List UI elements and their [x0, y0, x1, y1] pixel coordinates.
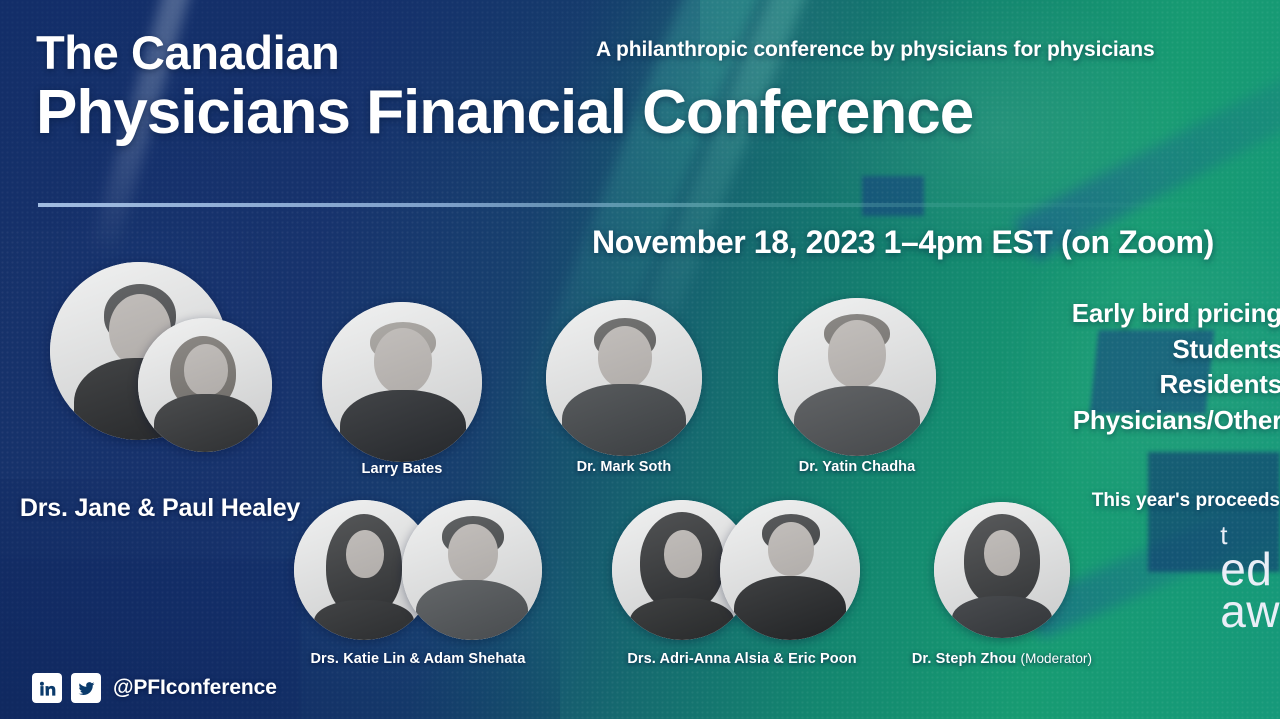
caption-bates: Larry Bates — [322, 461, 482, 477]
proceeds-note: This year's proceeds — [1092, 490, 1280, 512]
twitter-icon[interactable] — [71, 673, 101, 703]
title-line-2: Physicians Financial Conference — [36, 80, 973, 145]
speaker-portrait-healey — [50, 244, 272, 462]
pricing-list: Early bird pricing Students Residents Ph… — [1072, 296, 1280, 438]
portrait-image — [546, 300, 702, 456]
portrait-image — [322, 302, 482, 462]
conference-promo-banner: The Canadian Physicians Financial Confer… — [0, 0, 1280, 719]
avatar — [138, 318, 272, 452]
sponsor-logo-line-3: aw — [1220, 590, 1280, 632]
pricing-line-residents: Residents — [1072, 367, 1280, 403]
caption-zhou: Dr. Steph Zhou (Moderator) — [902, 651, 1102, 667]
portrait-image — [720, 500, 860, 640]
pricing-line-early-bird: Early bird pricing — [1072, 296, 1280, 332]
speaker-portrait-zhou — [934, 502, 1070, 638]
caption-alsia-poon: Drs. Adri-Anna Alsia & Eric Poon — [592, 651, 892, 667]
speaker-portrait-bates — [322, 302, 482, 462]
social-handle: @PFIconference — [113, 676, 277, 700]
background-shape — [862, 176, 924, 216]
avatar — [402, 500, 542, 640]
linkedin-icon[interactable] — [32, 673, 62, 703]
header-divider — [38, 203, 1228, 207]
portrait-image — [934, 502, 1070, 638]
sponsor-logo: t ed aw — [1220, 524, 1280, 633]
speaker-portrait-soth — [546, 300, 702, 456]
caption-soth: Dr. Mark Soth — [546, 459, 702, 475]
speaker-portrait-lin-shehata — [294, 500, 542, 642]
caption-chadha: Dr. Yatin Chadha — [778, 459, 936, 475]
speaker-portrait-alsia-poon — [612, 500, 860, 642]
portrait-image — [138, 318, 272, 452]
avatar — [720, 500, 860, 640]
caption-healey: Drs. Jane & Paul Healey — [10, 494, 310, 524]
portrait-image — [402, 500, 542, 640]
portrait-image — [778, 298, 936, 456]
caption-zhou-role: (Moderator) — [1021, 651, 1093, 666]
event-datetime: November 18, 2023 1–4pm EST (on Zoom) — [592, 224, 1214, 261]
banner-tagline: A philanthropic conference by physicians… — [596, 38, 1155, 62]
pricing-line-physicians: Physicians/Other — [1072, 403, 1280, 439]
pricing-line-students: Students — [1072, 332, 1280, 368]
social-bar: @PFIconference — [32, 673, 277, 703]
caption-zhou-name: Dr. Steph Zhou — [912, 651, 1021, 667]
caption-lin-shehata: Drs. Katie Lin & Adam Shehata — [284, 651, 552, 667]
speaker-portrait-chadha — [778, 298, 936, 456]
sponsor-logo-line-2: ed — [1220, 548, 1280, 590]
